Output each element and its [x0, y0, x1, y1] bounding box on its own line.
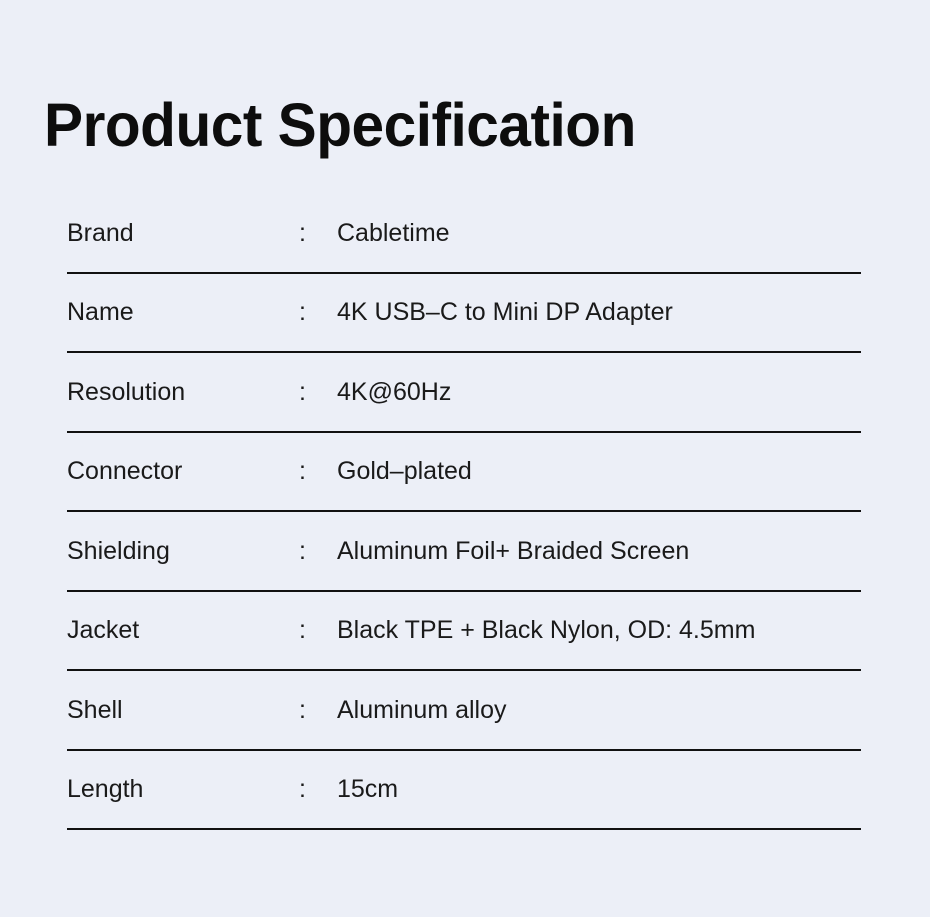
- spec-label: Shielding: [67, 536, 299, 566]
- spec-separator: :: [299, 615, 337, 645]
- spec-label: Shell: [67, 695, 299, 725]
- spec-label: Name: [67, 297, 299, 327]
- table-row: Jacket : Black TPE + Black Nylon, OD: 4.…: [67, 592, 861, 672]
- table-row: Name : 4K USB–C to Mini DP Adapter: [67, 274, 861, 354]
- spec-separator: :: [299, 377, 337, 407]
- table-row: Shell : Aluminum alloy: [67, 671, 861, 751]
- spec-label: Jacket: [67, 615, 299, 645]
- table-row: Resolution : 4K@60Hz: [67, 353, 861, 433]
- spec-separator: :: [299, 456, 337, 486]
- spec-separator: :: [299, 536, 337, 566]
- spec-value: Aluminum Foil+ Braided Screen: [337, 536, 861, 566]
- spec-value: 15cm: [337, 774, 861, 804]
- page-title: Product Specification: [44, 93, 636, 157]
- spec-value: 4K USB–C to Mini DP Adapter: [337, 297, 861, 327]
- spec-value: Cabletime: [337, 218, 861, 248]
- table-row: Shielding : Aluminum Foil+ Braided Scree…: [67, 512, 861, 592]
- spec-separator: :: [299, 297, 337, 327]
- spec-value: Gold–plated: [337, 456, 861, 486]
- spec-value: Aluminum alloy: [337, 695, 861, 725]
- spec-label: Brand: [67, 218, 299, 248]
- spec-separator: :: [299, 695, 337, 725]
- specification-table: Brand : Cabletime Name : 4K USB–C to Min…: [67, 194, 861, 830]
- product-specification-page: Product Specification Brand : Cabletime …: [0, 0, 930, 917]
- spec-label: Connector: [67, 456, 299, 486]
- table-row: Brand : Cabletime: [67, 194, 861, 274]
- spec-separator: :: [299, 218, 337, 248]
- spec-label: Length: [67, 774, 299, 804]
- spec-value: Black TPE + Black Nylon, OD: 4.5mm: [337, 615, 861, 645]
- table-row: Connector : Gold–plated: [67, 433, 861, 513]
- table-row: Length : 15cm: [67, 751, 861, 831]
- spec-label: Resolution: [67, 377, 299, 407]
- spec-value: 4K@60Hz: [337, 377, 861, 407]
- spec-separator: :: [299, 774, 337, 804]
